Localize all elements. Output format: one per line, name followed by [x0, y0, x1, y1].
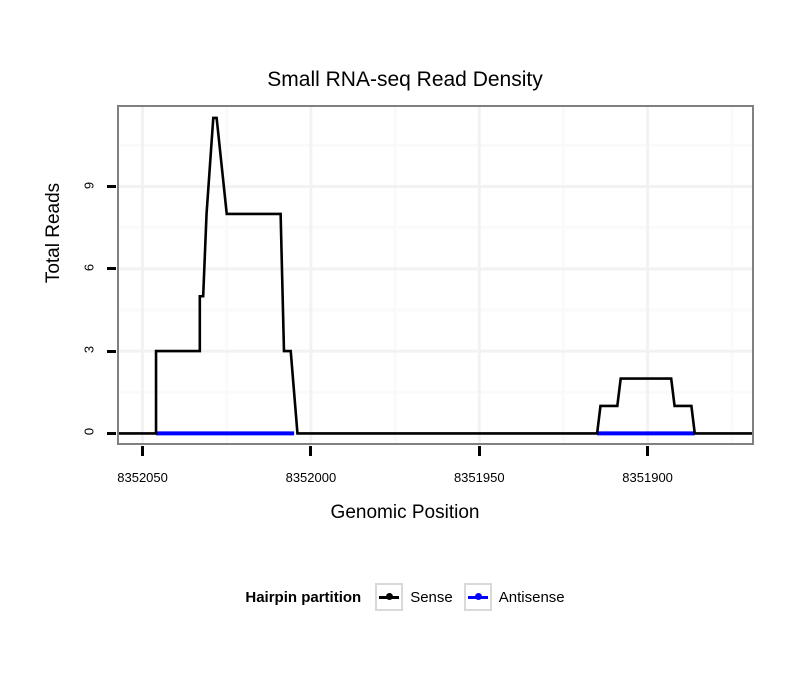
- legend: Hairpin partition Sense Antisense: [0, 583, 810, 611]
- x-tick-mark: [478, 446, 481, 456]
- y-tick-label: 9: [82, 170, 97, 200]
- x-tick-label: 8352000: [251, 470, 371, 485]
- legend-entry-antisense[interactable]: Antisense: [464, 583, 565, 611]
- y-tick-mark: [107, 185, 116, 188]
- legend-key-sense: [375, 583, 403, 611]
- legend-entry-sense[interactable]: Sense: [375, 583, 453, 611]
- y-tick-mark: [107, 432, 116, 435]
- legend-dot-antisense-icon: [475, 593, 482, 600]
- y-tick-label: 3: [82, 335, 97, 365]
- x-axis-title: Genomic Position: [0, 502, 810, 524]
- x-tick-label: 8351950: [419, 470, 539, 485]
- plot-panel: [117, 105, 754, 445]
- legend-label-antisense: Antisense: [499, 589, 565, 606]
- plot-area: [119, 107, 752, 443]
- x-tick-mark: [141, 446, 144, 456]
- x-tick-mark: [309, 446, 312, 456]
- y-axis-title: Total Reads: [43, 163, 65, 303]
- y-tick-mark: [107, 350, 116, 353]
- x-tick-mark: [646, 446, 649, 456]
- y-tick-mark: [107, 267, 116, 270]
- legend-title: Hairpin partition: [245, 589, 361, 606]
- x-tick-label: 8351900: [588, 470, 708, 485]
- y-tick-label: 6: [82, 252, 97, 282]
- page-title: Small RNA-seq Read Density: [0, 68, 810, 92]
- series-sense-line: [119, 118, 752, 433]
- x-tick-label: 8352050: [83, 470, 203, 485]
- legend-label-sense: Sense: [410, 589, 453, 606]
- grid-minor-lines: [119, 107, 752, 443]
- y-tick-label: 0: [82, 417, 97, 447]
- chart-figure: Small RNA-seq Read Density Total Reads 0…: [0, 0, 810, 690]
- legend-key-antisense: [464, 583, 492, 611]
